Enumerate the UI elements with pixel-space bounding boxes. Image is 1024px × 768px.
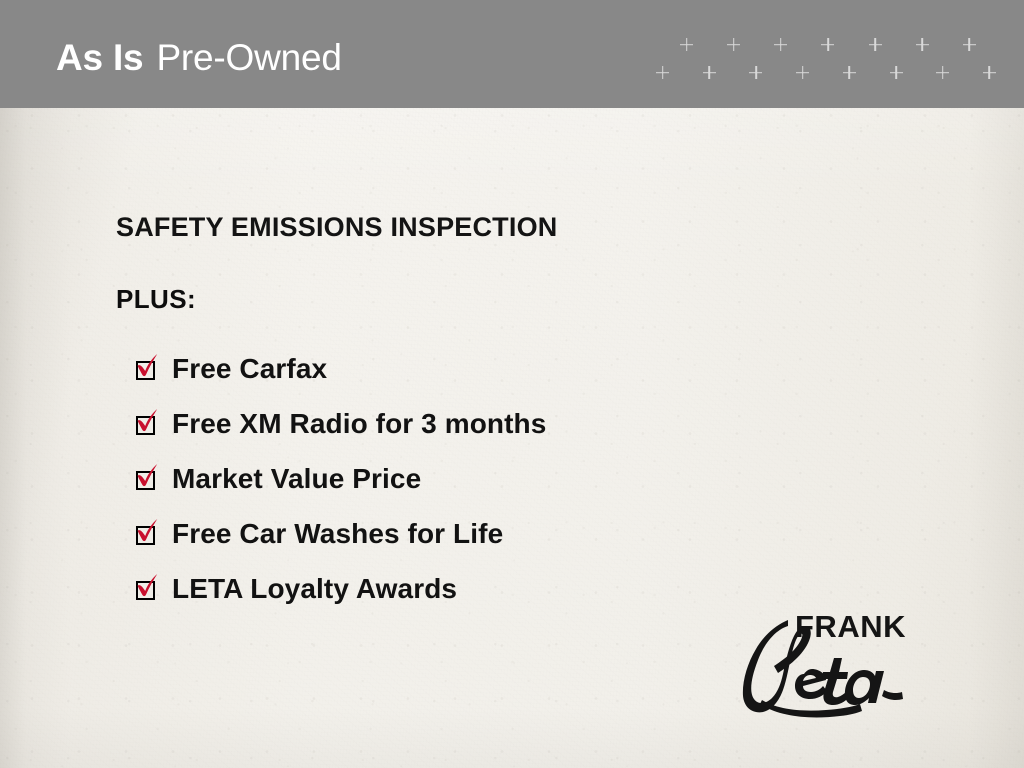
list-item-label: LETA Loyalty Awards [172,574,457,604]
headline-text: SAFETY EMISSIONS INSPECTION [116,212,557,243]
plus-mark-icon [963,38,976,51]
red-checkmark-icon [133,406,163,436]
plus-decoration-row-bottom [656,66,996,79]
plus-mark-icon [680,38,693,51]
list-item-label: Free Car Washes for Life [172,519,503,549]
plus-mark-icon [703,66,716,79]
list-item-label: Free XM Radio for 3 months [172,409,546,439]
plus-mark-icon [890,66,903,79]
slide-canvas: As IsPre-Owned [0,0,1024,768]
red-checkmark-icon [133,571,163,601]
plus-mark-icon [727,38,740,51]
slide-title-light: Pre-Owned [156,37,341,78]
checked-checkbox-icon [134,412,158,436]
plus-decoration-row-top [680,38,976,51]
plus-mark-icon [821,38,834,51]
slide-title-strong: As Is [56,37,143,78]
plus-mark-icon [796,66,809,79]
plus-decoration-group [672,38,1002,94]
list-item: Market Value Price [134,451,834,506]
list-item: Free Car Washes for Life [134,506,834,561]
plus-mark-icon [656,66,669,79]
checked-checkbox-icon [134,577,158,601]
benefit-list: Free Carfax Free XM Radio for 3 months [134,341,834,616]
plus-mark-icon [749,66,762,79]
plus-mark-icon [843,66,856,79]
list-item: Free XM Radio for 3 months [134,396,834,451]
checked-checkbox-icon [134,522,158,546]
plus-mark-icon [869,38,882,51]
slide-title: As IsPre-Owned [56,36,342,80]
plus-mark-icon [936,66,949,79]
checked-checkbox-icon [134,467,158,491]
plus-mark-icon [916,38,929,51]
plus-mark-icon [983,66,996,79]
slide-header-bar: As IsPre-Owned [0,0,1024,108]
plus-label-text: PLUS: [116,284,196,315]
list-item-label: Free Carfax [172,354,327,384]
checked-checkbox-icon [134,357,158,381]
logo-frank-text: FRANK [795,609,906,644]
red-checkmark-icon [133,516,163,546]
plus-mark-icon [774,38,787,51]
red-checkmark-icon [133,351,163,381]
frank-leta-logo: FRANK Frank Leta logo [700,604,930,724]
red-checkmark-icon [133,461,163,491]
list-item-label: Market Value Price [172,464,421,494]
list-item: Free Carfax [134,341,834,396]
frank-leta-logo-graphic: FRANK [700,604,930,724]
